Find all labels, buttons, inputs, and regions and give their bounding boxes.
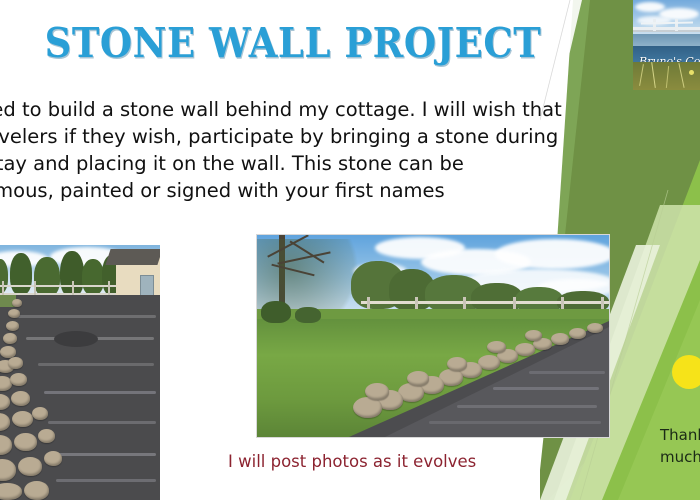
photo-caption: I will post photos as it evolves bbox=[228, 452, 568, 471]
body-line-2: my travelers if they wish, participate b… bbox=[0, 123, 624, 150]
page-title: STONE WALL PROJECT bbox=[0, 18, 586, 67]
photo-brunos-cottage-logo: Bruno's Co bbox=[633, 0, 700, 90]
body-paragraph: I started to build a stone wall behind m… bbox=[0, 96, 624, 204]
thanks-line-1: Thank you so bbox=[660, 424, 700, 446]
body-line-3: their stay and placing it on the wall. T… bbox=[0, 150, 624, 177]
photo-field-stone-wall bbox=[256, 234, 610, 438]
slide-canvas: STONE WALL PROJECT I started to build a … bbox=[0, 0, 700, 500]
yellow-accent-dot bbox=[672, 355, 700, 389]
body-line-4: anonymous, painted or signed with your f… bbox=[0, 177, 624, 204]
thank-you-text: Thank you so much bbox=[660, 424, 700, 468]
thanks-line-2: much bbox=[660, 446, 700, 468]
body-line-1: I started to build a stone wall behind m… bbox=[0, 96, 624, 123]
photo-driveway-stone-wall bbox=[0, 245, 160, 500]
